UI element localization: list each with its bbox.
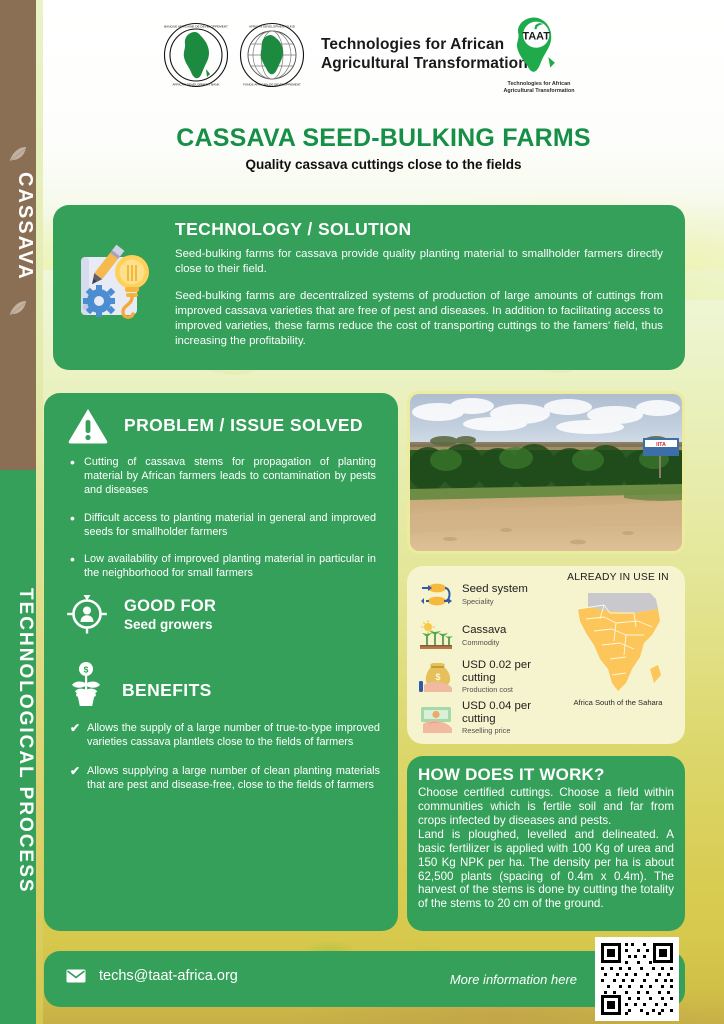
left-sidebar: CASSAVA TECHNOLOGICAL PROCESS [0, 0, 36, 1024]
technology-solution-card: TECHNOLOGY / SOLUTION Seed-bulking farms… [53, 205, 685, 370]
taat-caption-line2: Agricultural Transformation [483, 88, 595, 95]
benefits-heading: BENEFITS [122, 680, 212, 701]
target-person-icon [66, 593, 108, 635]
sidebar-leaf-mark-icon-2 [7, 298, 29, 318]
qr-code-image [599, 941, 675, 1017]
svg-text:AFRICAN DEVELOPMENT FUND: AFRICAN DEVELOPMENT FUND [249, 25, 296, 29]
envelope-icon [66, 969, 86, 983]
fact-text: Cassava Commodity [462, 624, 506, 647]
check-icon: ✔ [70, 764, 80, 780]
technology-paragraph-1: Seed-bulking farms for cassava provide q… [175, 247, 663, 277]
fact-text: USD 0.02 per cutting Production cost [462, 659, 567, 694]
list-item: $ USD 0.02 per cutting Production cost [419, 656, 567, 697]
list-item: Low availability of improved planting ma… [70, 552, 376, 580]
footer-bar: techs@taat-africa.org More information h… [44, 951, 685, 1007]
taat-caption-line1: Technologies for African [483, 81, 595, 88]
fact-label: Commodity [462, 638, 506, 647]
svg-text:AFRICAN DEVELOPMENT BANK: AFRICAN DEVELOPMENT BANK [172, 83, 220, 87]
usage-map: ALREADY IN USE IN Africa South of the Sa… [559, 572, 677, 707]
fact-value: USD 0.02 per cutting [462, 659, 567, 684]
svg-text:$: $ [84, 664, 89, 674]
problem-benefits-card: PROBLEM / ISSUE SOLVED Cutting of cassav… [44, 393, 398, 931]
problem-header: PROBLEM / ISSUE SOLVED [68, 407, 363, 444]
list-item: ✔ Allows the supply of a large number of… [70, 721, 380, 750]
email-text: techs@taat-africa.org [99, 968, 238, 984]
sidebar-divider [36, 0, 43, 1024]
more-information-label: More information here [450, 972, 577, 987]
page-subtitle: Quality cassava cuttings close to the fi… [43, 157, 724, 172]
money-bag-icon: $ [419, 661, 453, 693]
list-item: Difficult access to planting material in… [70, 511, 376, 539]
good-for-heading: GOOD FOR [124, 597, 216, 616]
field-photo: IITA [407, 391, 685, 554]
contact-email[interactable]: techs@taat-africa.org [66, 968, 238, 984]
qr-code[interactable] [595, 937, 679, 1021]
cassava-crop-icon [419, 620, 453, 652]
taat-africa-icon: TAAT [504, 61, 574, 78]
taat-caption: Technologies for African Agricultural Tr… [483, 81, 595, 96]
african-development-fund-seal-icon: AFRICAN DEVELOPMENT FUND FONDS AFRICAIN … [239, 22, 305, 88]
photo-image: IITA [410, 394, 682, 551]
benefit-text: Allows supplying a large number of clean… [87, 765, 380, 791]
fact-text: USD 0.04 per cutting Reselling price [462, 700, 567, 735]
good-for-text: GOOD FOR Seed growers [124, 597, 216, 632]
check-icon: ✔ [70, 721, 80, 737]
svg-text:TAAT: TAAT [523, 30, 551, 42]
svg-text:IITA: IITA [656, 442, 666, 448]
list-item: USD 0.04 per cutting Reselling price [419, 697, 567, 738]
partner-logos: BANQUE AFRICAINE DE DEVELOPPEMENT AFRICA… [163, 22, 528, 88]
good-for-section: GOOD FOR Seed growers [66, 593, 216, 635]
taat-logo: TAAT Technologies for African Agricultur… [483, 16, 595, 96]
fact-label: Speciality [462, 597, 528, 606]
list-item: Cassava Commodity [419, 615, 567, 656]
map-title: ALREADY IN USE IN [559, 572, 677, 583]
fact-value: USD 0.04 per cutting [462, 700, 567, 725]
sidebar-commodity-label: CASSAVA [0, 172, 36, 281]
how-it-works-heading: HOW DOES IT WORK? [418, 765, 674, 785]
sidebar-process-label: TECHNOLOGICAL PROCESS [0, 588, 36, 894]
fact-label: Reselling price [462, 726, 567, 735]
technology-paragraph-2: Seed-bulking farms are decentralized sys… [175, 289, 663, 349]
how-it-works-card: HOW DOES IT WORK? Choose certified cutti… [407, 756, 685, 931]
fact-value: Cassava [462, 624, 506, 637]
list-item: Cutting of cassava stems for propagation… [70, 455, 376, 498]
header: BANQUE AFRICAINE DE DEVELOPPEMENT AFRICA… [43, 14, 724, 114]
title-block: CASSAVA SEED-BULKING FARMS Quality cassa… [43, 124, 724, 172]
svg-text:BANQUE AFRICAINE DE DEVELOPPEM: BANQUE AFRICAINE DE DEVELOPPEMENT [164, 25, 228, 29]
how-it-works-paragraph-1: Choose certified cuttings. Choose a fiel… [418, 786, 674, 827]
idea-pencil-gear-icon [75, 243, 157, 325]
good-for-value: Seed growers [124, 617, 216, 632]
fact-text: Seed system Speciality [462, 583, 528, 606]
svg-text:FONDS AFRICAIN DE DEVELOPPEMEN: FONDS AFRICAIN DE DEVELOPPEMENT [243, 83, 301, 87]
problem-list: Cutting of cassava stems for propagation… [70, 455, 376, 593]
sidebar-leaf-mark-icon [7, 144, 29, 164]
page-title: CASSAVA SEED-BULKING FARMS [43, 124, 724, 153]
benefit-text: Allows the supply of a large number of t… [87, 722, 380, 748]
problem-heading: PROBLEM / ISSUE SOLVED [124, 415, 363, 436]
benefits-list: ✔ Allows the supply of a large number of… [70, 721, 380, 807]
technology-solution-heading: TECHNOLOGY / SOLUTION [175, 219, 663, 240]
fact-value: Seed system [462, 583, 528, 596]
fact-label: Production cost [462, 685, 567, 694]
how-it-works-paragraph-2: Land is ploughed, levelled and delineate… [418, 828, 674, 911]
african-development-bank-seal-icon: BANQUE AFRICAINE DE DEVELOPPEMENT AFRICA… [163, 22, 229, 88]
cash-hand-icon [419, 702, 453, 734]
benefits-header: $ BENEFITS [66, 661, 212, 707]
warning-triangle-icon [68, 407, 108, 444]
money-plant-icon: $ [66, 661, 106, 707]
facts-card: Seed system Speciality [407, 566, 685, 744]
facts-list: Seed system Speciality [419, 574, 567, 738]
svg-text:$: $ [435, 672, 440, 682]
list-item: ✔ Allows supplying a large number of cle… [70, 764, 380, 793]
map-caption: Africa South of the Sahara [559, 698, 677, 707]
list-item: Seed system Speciality [419, 574, 567, 615]
technology-solution-body: TECHNOLOGY / SOLUTION Seed-bulking farms… [175, 219, 663, 349]
seed-system-icon [419, 579, 453, 611]
